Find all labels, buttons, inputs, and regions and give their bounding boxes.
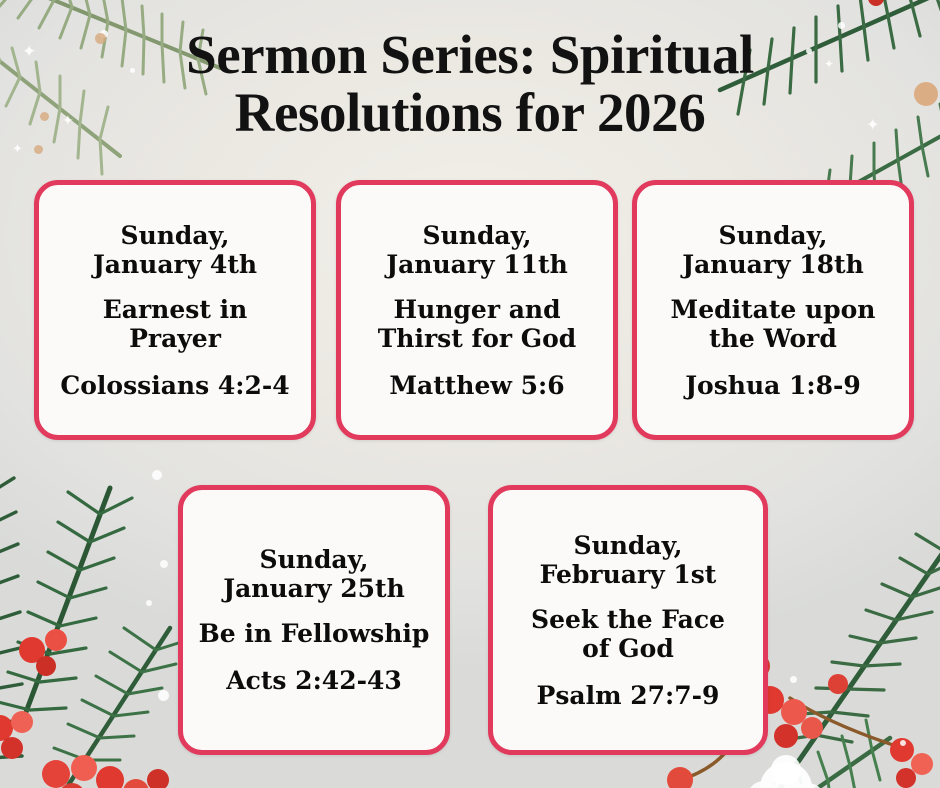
sermon-card[interactable]: Sunday, January 4th Earnest in Prayer Co… — [34, 180, 316, 440]
sermon-date: Sunday, January 18th — [682, 221, 864, 279]
sermon-topic: Meditate upon the Word — [671, 295, 876, 353]
sermon-topic-line-2: Thirst for God — [378, 324, 577, 353]
snowball-puff-icon — [747, 755, 825, 788]
sermon-date-line-1: Sunday, — [121, 221, 230, 250]
title-line-1: Sermon Series: Spiritual — [0, 26, 940, 84]
sermon-topic-line-1: Be in Fellowship — [199, 619, 430, 648]
sermon-date: Sunday, January 4th — [93, 221, 257, 279]
snow-speck — [146, 600, 152, 606]
sermon-verse: Colossians 4:2-4 — [60, 371, 289, 400]
sermon-date-line-1: Sunday, — [574, 531, 683, 560]
sermon-date-line-1: Sunday, — [423, 221, 532, 250]
sermon-card[interactable]: Sunday, February 1st Seek the Face of Go… — [488, 485, 768, 755]
sermon-date-line-2: January 4th — [93, 250, 257, 279]
title-line-2: Resolutions for 2026 — [0, 84, 940, 142]
sermon-verse: Matthew 5:6 — [389, 371, 564, 400]
snow-speck — [790, 676, 797, 683]
sermon-verse: Acts 2:42-43 — [226, 666, 402, 695]
sermon-topic-line-2: the Word — [709, 324, 837, 353]
sermon-topic: Earnest in Prayer — [103, 295, 248, 353]
snow-speck — [160, 560, 168, 568]
tan-speck — [34, 145, 43, 154]
sermon-card[interactable]: Sunday, January 25th Be in Fellowship Ac… — [178, 485, 450, 755]
star-confetti-icon: ✦ — [12, 142, 23, 155]
sermon-date: Sunday, February 1st — [540, 531, 717, 589]
sermon-topic-line-1: Seek the Face — [531, 605, 725, 634]
sermon-date: Sunday, January 11th — [386, 221, 568, 279]
sermon-topic: Be in Fellowship — [199, 619, 430, 648]
sermon-date-line-2: February 1st — [540, 560, 717, 589]
sermon-topic-line-1: Earnest in — [103, 295, 248, 324]
page-title: Sermon Series: Spiritual Resolutions for… — [0, 26, 940, 143]
sermon-series-poster: ✦ ✦ ✦ ✦ ✦ Sermon Series: Spiritual Resol… — [0, 0, 940, 788]
sermon-date-line-1: Sunday, — [719, 221, 828, 250]
sermon-card[interactable]: Sunday, January 18th Meditate upon the W… — [632, 180, 914, 440]
sermon-topic-line-2: Prayer — [129, 324, 221, 353]
sermon-date: Sunday, January 25th — [223, 545, 405, 603]
sermon-card[interactable]: Sunday, January 11th Hunger and Thirst f… — [336, 180, 618, 440]
sermon-date-line-2: January 11th — [386, 250, 568, 279]
sermon-topic: Hunger and Thirst for God — [378, 295, 577, 353]
snow-speck — [152, 470, 162, 480]
sermon-date-line-1: Sunday, — [260, 545, 369, 574]
red-berries-top-right-icon — [851, 0, 909, 6]
sermon-topic-line-1: Meditate upon — [671, 295, 876, 324]
sermon-topic: Seek the Face of God — [531, 605, 725, 663]
sermon-verse: Joshua 1:8-9 — [685, 371, 861, 400]
sermon-topic-line-1: Hunger and — [393, 295, 560, 324]
sermon-date-line-2: January 25th — [223, 574, 405, 603]
snow-speck — [158, 690, 169, 701]
sermon-date-line-2: January 18th — [682, 250, 864, 279]
red-berry-cluster-bottom-left-icon — [0, 629, 169, 788]
sermon-verse: Psalm 27:7-9 — [537, 681, 720, 710]
snow-speck — [900, 740, 906, 746]
sermon-topic-line-2: of God — [582, 634, 674, 663]
